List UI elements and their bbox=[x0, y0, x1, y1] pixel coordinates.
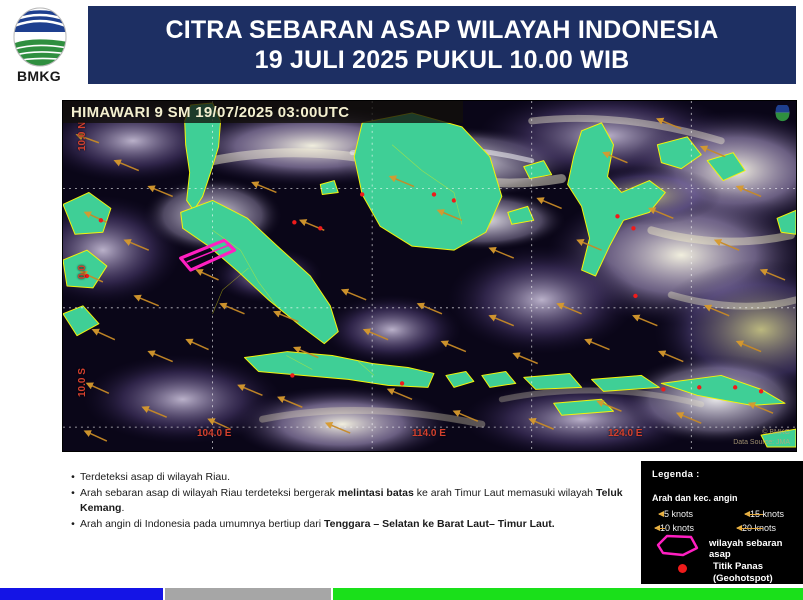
longitude-label-114: 114.0 E bbox=[412, 428, 446, 439]
legend-polygon-label: wilayah sebaran asap bbox=[709, 538, 803, 560]
satellite-credit: © BMKG Data Source: JMA bbox=[733, 428, 790, 447]
note-text-3: Arah angin di Indonesia pada umumnya ber… bbox=[80, 517, 626, 532]
satellite-credit-line2: Data Source: JMA bbox=[733, 438, 790, 447]
legend-box: Legenda : Arah dan kec. angin 5 knots 15… bbox=[641, 461, 803, 584]
footer-bar-green bbox=[333, 588, 803, 600]
page-title-line1: CITRA SEBARAN ASAP WILAYAH INDONESIA bbox=[165, 15, 718, 46]
bullet-icon: • bbox=[66, 470, 80, 485]
satellite-credit-line1: © BMKG bbox=[733, 428, 790, 437]
note-text-1: Terdeteksi asap di wilayah Riau. bbox=[80, 470, 626, 485]
legend-hotspot-label-line1: Titik Panas bbox=[713, 561, 763, 572]
latitude-label-10s: 10.0 S bbox=[77, 368, 88, 397]
latitude-label-0: 0.0 bbox=[77, 265, 88, 279]
page-header: BMKG CITRA SEBARAN ASAP WILAYAH INDONESI… bbox=[0, 0, 803, 100]
note-text-2: Arah sebaran asap di wilayah Riau terdet… bbox=[80, 486, 626, 516]
bmkg-logo: BMKG bbox=[5, 6, 73, 94]
legend-title: Legenda : bbox=[652, 469, 700, 480]
page-title-bar: CITRA SEBARAN ASAP WILAYAH INDONESIA 19 … bbox=[88, 6, 796, 84]
satellite-image-header: HIMAWARI 9 SM 19/07/2025 03:00UTC bbox=[63, 101, 463, 123]
latitude-label-10n: 10.0 N bbox=[77, 122, 88, 151]
footer-bar-gray bbox=[165, 588, 331, 600]
note-item-1: • Terdeteksi asap di wilayah Riau. bbox=[66, 470, 626, 485]
smoke-polygon-icon bbox=[655, 533, 701, 557]
legend-wind-5knots: 5 knots bbox=[659, 509, 693, 519]
bullet-icon: • bbox=[66, 486, 80, 516]
note-item-3: • Arah angin di Indonesia pada umumnya b… bbox=[66, 517, 626, 532]
legend-wind-15knots: 15 knots bbox=[745, 509, 784, 519]
footer-bar-blue bbox=[0, 588, 163, 600]
page-title-line2: 19 JULI 2025 PUKUL 10.00 WIB bbox=[255, 45, 630, 76]
legend-wind-20knots: 20 knots bbox=[737, 523, 776, 533]
analysis-notes: • Terdeteksi asap di wilayah Riau. • Ara… bbox=[66, 470, 626, 533]
legend-hotspot-label-line2: (Geohotspot) bbox=[713, 573, 773, 584]
legend-wind-10knots-label: 10 knots bbox=[660, 523, 694, 533]
footer-bars bbox=[0, 588, 803, 600]
bmkg-logo-text: BMKG bbox=[5, 68, 73, 84]
satellite-image-header-text: HIMAWARI 9 SM 19/07/2025 03:00UTC bbox=[63, 104, 349, 121]
satellite-image[interactable]: 104.0 E 114.0 E 124.0 E 10.0 N 0.0 10.0 … bbox=[62, 100, 797, 452]
bmkg-logo-watermark-icon bbox=[774, 105, 791, 122]
bullet-icon: • bbox=[66, 517, 80, 532]
legend-wind-5knots-label: 5 knots bbox=[664, 509, 693, 519]
longitude-label-124: 124.0 E bbox=[608, 428, 642, 439]
satellite-image-canvas bbox=[63, 101, 796, 451]
legend-wind-title: Arah dan kec. angin bbox=[652, 493, 738, 503]
longitude-label-104: 104.0 E bbox=[197, 428, 231, 439]
legend-wind-10knots: 10 knots bbox=[655, 523, 694, 533]
note-item-2: • Arah sebaran asap di wilayah Riau terd… bbox=[66, 486, 626, 516]
bmkg-globe-icon bbox=[12, 6, 68, 68]
hotspot-dot-icon bbox=[678, 564, 687, 573]
